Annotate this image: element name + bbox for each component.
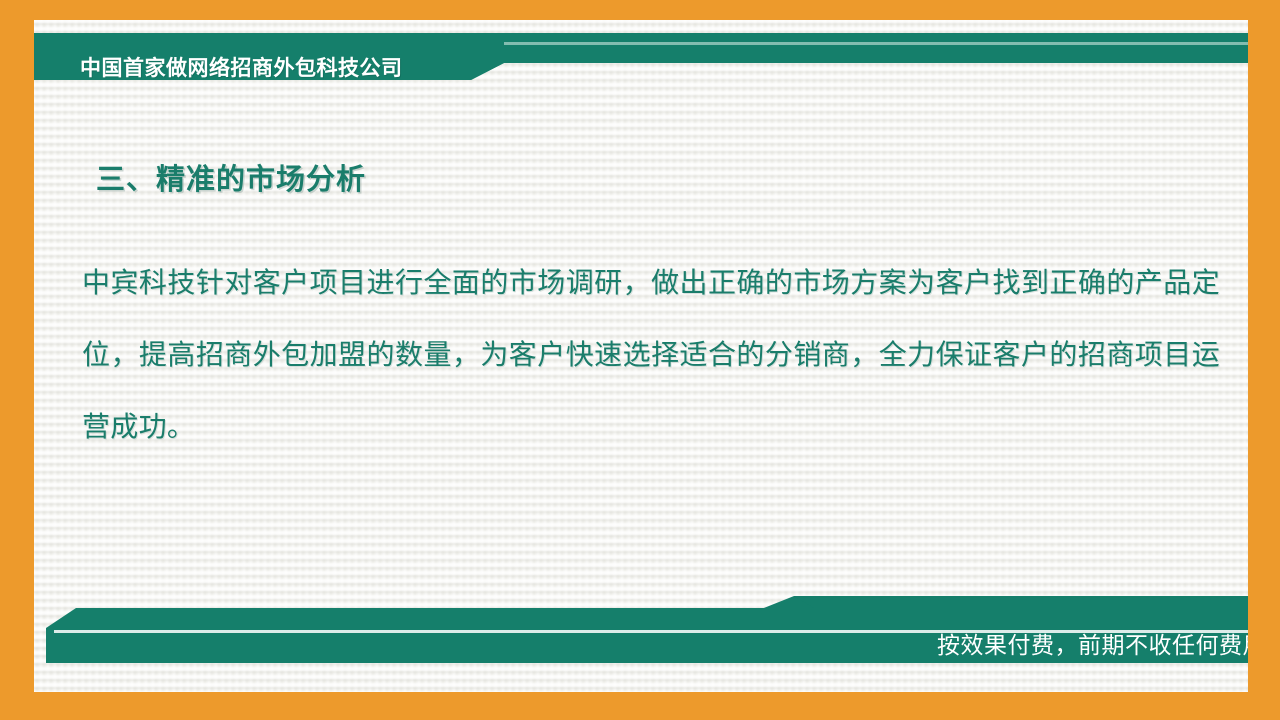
slide-content-area: 中国首家做网络招商外包科技公司 三、精准的市场分析 中宾科技针对客户项目进行全面…: [34, 20, 1248, 692]
header-green-block: [34, 33, 1248, 80]
footer-green-left-strip: [46, 596, 1248, 663]
header-stripe-light: [504, 42, 1248, 45]
slide-canvas: 中国首家做网络招商外包科技公司 三、精准的市场分析 中宾科技针对客户项目进行全面…: [0, 0, 1280, 720]
footer-green-lower: [54, 633, 1248, 663]
body-paragraph-text: 中宾科技针对客户项目进行全面的市场调研，做出正确的市场方案为客户找到正确的产品定…: [82, 248, 1220, 464]
header-green-band-right: [504, 45, 1248, 63]
footer-tagline: 按效果付费，前期不收任何费用: [937, 629, 1248, 661]
header-banner-label: 中国首家做网络招商外包科技公司: [80, 53, 403, 84]
body-paragraph-block: 中宾科技针对客户项目进行全面的市场调研，做出正确的市场方案为客户找到正确的产品定…: [82, 248, 1220, 464]
header-green-wedge: [34, 63, 504, 80]
footer-separator-line: [54, 630, 1248, 633]
footer-green-right-block: [734, 596, 1248, 663]
section-heading: 三、精准的市场分析: [96, 156, 366, 198]
footer-banner-graphic: 按效果付费，前期不收任何费用: [34, 582, 1248, 692]
header-banner-graphic: 中国首家做网络招商外包科技公司: [34, 20, 1248, 130]
